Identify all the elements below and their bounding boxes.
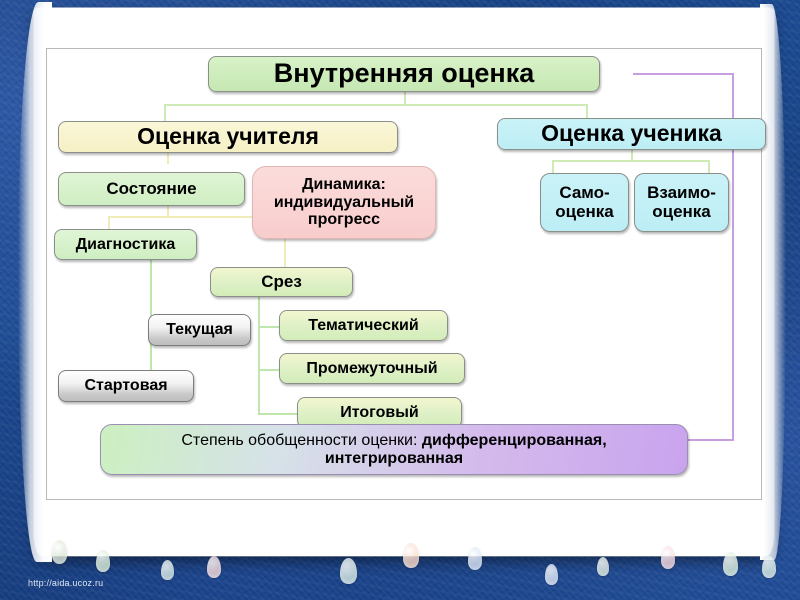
- connector-to-promezhutochnyy: [258, 369, 280, 371]
- connector-student-horizontal: [552, 160, 710, 162]
- connector-banner-bottom: [688, 439, 734, 441]
- node-srez[interactable]: Срез: [210, 267, 353, 297]
- water-droplet: [207, 556, 221, 578]
- connector-to-tematicheskiy: [258, 326, 280, 328]
- node-teacher-assessment[interactable]: Оценка учителя: [58, 121, 398, 153]
- banner-strong-line2: интегрированная: [325, 450, 463, 467]
- connector-banner-top: [633, 73, 734, 75]
- node-promezhutochnyy[interactable]: Промежуточный: [279, 353, 465, 384]
- connector-to-itogovyy: [258, 413, 298, 415]
- node-generalization-banner[interactable]: Степень обобщенности оценки: дифференцир…: [100, 424, 688, 475]
- node-startovaya[interactable]: Стартовая: [58, 370, 194, 402]
- paper-right-edge: [760, 4, 786, 560]
- banner-strong-line1: дифференцированная,: [422, 432, 607, 449]
- source-watermark: http://aida.ucoz.ru: [28, 578, 103, 588]
- connector-to-vzaimootsenka: [708, 160, 710, 174]
- water-droplet: [597, 557, 609, 576]
- node-tekushaya[interactable]: Текущая: [148, 314, 251, 346]
- slide-canvas: Внутренняя оценка Оценка учителя Оценка …: [0, 0, 800, 600]
- node-tematicheskiy[interactable]: Тематический: [279, 310, 448, 341]
- connector-down-diagnostika: [108, 216, 110, 230]
- water-droplet: [661, 546, 675, 569]
- water-droplet: [403, 543, 419, 568]
- water-droplet: [52, 540, 67, 564]
- water-droplet: [96, 550, 110, 572]
- connector-root-stem: [404, 91, 406, 105]
- banner-lead-text: Степень обобщенности оценки:: [181, 432, 422, 449]
- node-dinamika-individual-progress[interactable]: Динамика: индивидуальный прогресс: [252, 166, 436, 239]
- connector-root-horizontal: [164, 104, 588, 106]
- connector-to-samootsenka: [552, 160, 554, 174]
- node-root-internal-assessment[interactable]: Внутренняя оценка: [208, 56, 600, 92]
- node-sostoyanie[interactable]: Состояние: [58, 172, 245, 206]
- node-student-assessment[interactable]: Оценка ученика: [497, 118, 766, 150]
- diagram-card: Внутренняя оценка Оценка учителя Оценка …: [46, 48, 762, 500]
- connector-srez-spine: [258, 296, 260, 415]
- water-droplet: [545, 564, 558, 585]
- node-samootsenka[interactable]: Само- оценка: [540, 173, 629, 232]
- node-diagnostika[interactable]: Диагностика: [54, 229, 197, 260]
- water-droplet: [723, 552, 738, 576]
- water-droplet: [161, 560, 174, 580]
- water-droplet: [468, 547, 482, 570]
- node-vzaimootsenka[interactable]: Взаимо- оценка: [634, 173, 729, 232]
- water-droplet: [340, 558, 357, 584]
- connector-teacher-stem: [167, 152, 169, 164]
- banner-text: Степень обобщенности оценки: дифференцир…: [167, 432, 620, 467]
- water-droplet: [762, 556, 776, 578]
